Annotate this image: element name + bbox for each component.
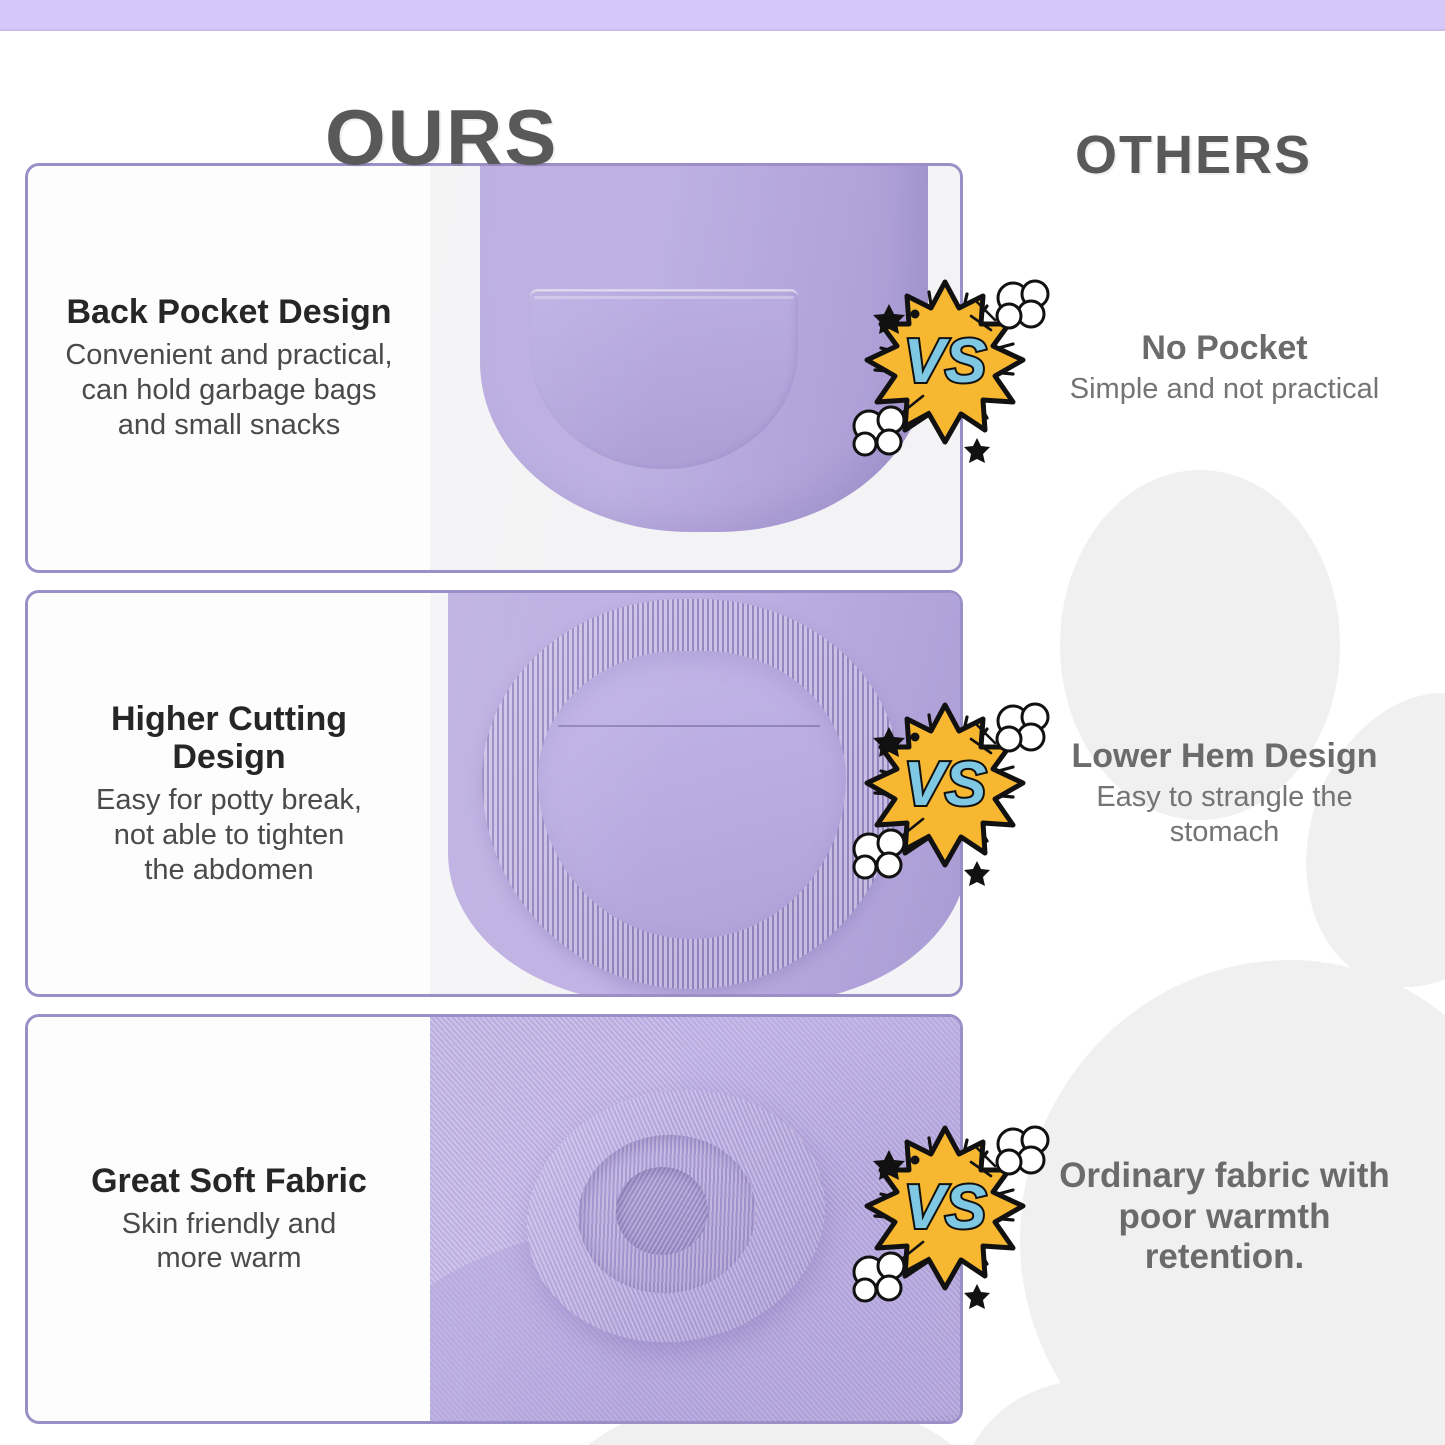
ours-text-block: Back Pocket Design Convenient and practi… [28, 166, 430, 570]
ours-card: Higher CuttingDesign Easy for potty brea… [25, 590, 963, 997]
comparison-row: Higher CuttingDesign Easy for potty brea… [25, 590, 1420, 997]
ours-feature-title: Great Soft Fabric [91, 1162, 367, 1201]
ours-feature-description: Easy for potty break,not able to tighten… [96, 783, 362, 887]
header-ours: OURS [325, 98, 558, 176]
fabric-swirl-inner [616, 1167, 708, 1255]
others-text-block: No Pocket Simple and not practical [963, 163, 1420, 573]
column-headers: OURS OTHERS [0, 46, 1445, 151]
ours-feature-title: Higher CuttingDesign [111, 700, 347, 778]
ours-card: Back Pocket Design Convenient and practi… [25, 163, 963, 573]
ours-text-block: Higher CuttingDesign Easy for potty brea… [28, 593, 430, 994]
others-text-block: Lower Hem Design Easy to strangle thesto… [963, 590, 1420, 997]
ours-feature-title: Back Pocket Design [66, 293, 391, 332]
ours-feature-description: Convenient and practical,can hold garbag… [65, 338, 392, 442]
ours-text-block: Great Soft Fabric Skin friendly andmore … [28, 1017, 430, 1421]
comparison-row: Great Soft Fabric Skin friendly andmore … [25, 1014, 1420, 1424]
others-feature-description: Easy to strangle thestomach [1096, 780, 1352, 850]
header-others: OTHERS [1075, 128, 1312, 182]
comparison-row: Back Pocket Design Convenient and practi… [25, 163, 1420, 573]
hoodie-back-pocket-photo [430, 166, 960, 570]
others-text-block: Ordinary fabric withpoor warmthretention… [963, 1014, 1420, 1424]
others-feature-description: Simple and not practical [1070, 372, 1380, 407]
ribbed-hem-opening-photo [430, 593, 960, 994]
others-feature-title: No Pocket [1141, 329, 1307, 368]
others-feature-title: Ordinary fabric withpoor warmthretention… [1059, 1156, 1390, 1278]
swirled-knit-fabric-photo [430, 1017, 960, 1421]
others-feature-title: Lower Hem Design [1071, 737, 1377, 776]
ours-card: Great Soft Fabric Skin friendly andmore … [25, 1014, 963, 1424]
hem-seam-line [558, 725, 820, 727]
ours-feature-description: Skin friendly andmore warm [122, 1207, 336, 1277]
